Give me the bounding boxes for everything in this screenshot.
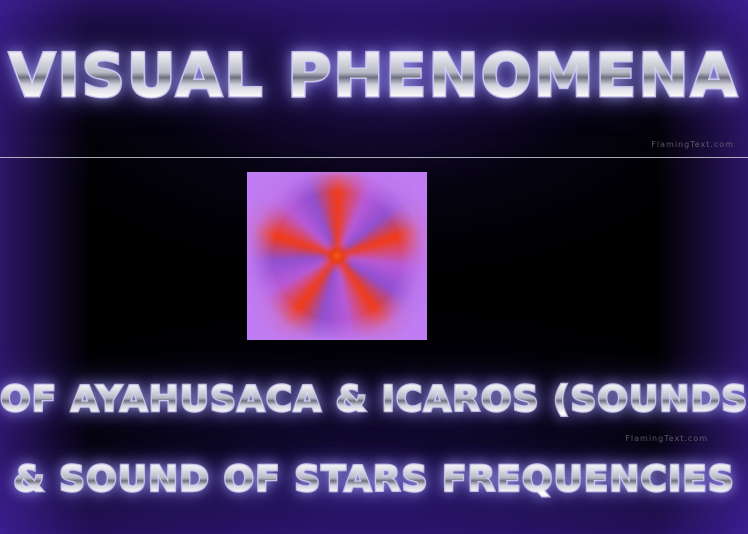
subtitle-line-1: OF AYAHUSACA & ICAROS (SOUNDS) <box>0 378 748 422</box>
page-title: VISUAL PHENOMENA <box>0 40 748 112</box>
title-divider <box>0 157 748 158</box>
presentation-slide: VISUAL PHENOMENA VISUAL PHENOMENA Flamin… <box>0 0 748 534</box>
pinwheel-center-core <box>329 248 345 264</box>
watermark-bottom: FlamingText.com <box>625 434 708 443</box>
pinwheel-spiral-illusion-image <box>247 172 427 340</box>
subtitle-line-2: & SOUND OF STARS FREQUENCIES <box>0 458 748 502</box>
watermark-top: FlamingText.com <box>651 140 734 149</box>
